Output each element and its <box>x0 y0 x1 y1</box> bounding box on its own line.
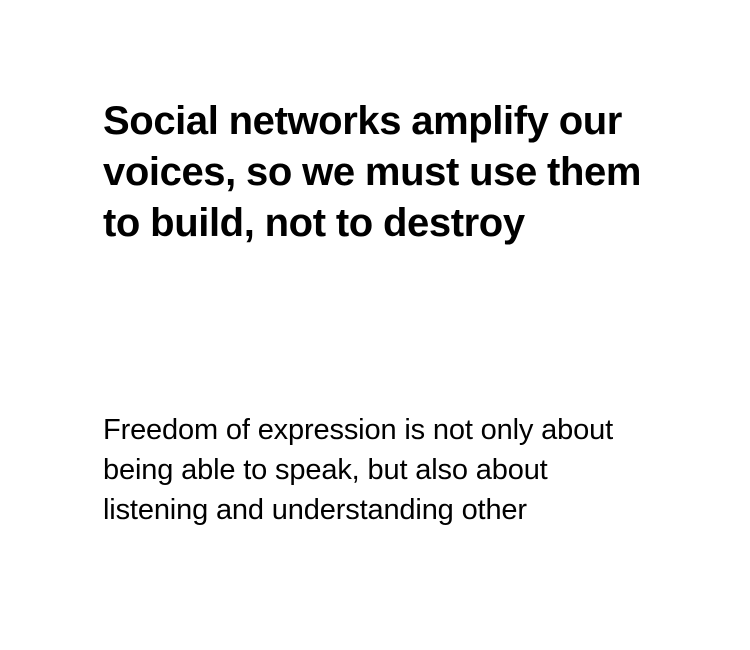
slide-root: Social networks amplify our voices, so w… <box>0 0 750 650</box>
body-paragraph: Freedom of expression is not only about … <box>103 410 631 530</box>
page-title: Social networks amplify our voices, so w… <box>103 96 655 249</box>
